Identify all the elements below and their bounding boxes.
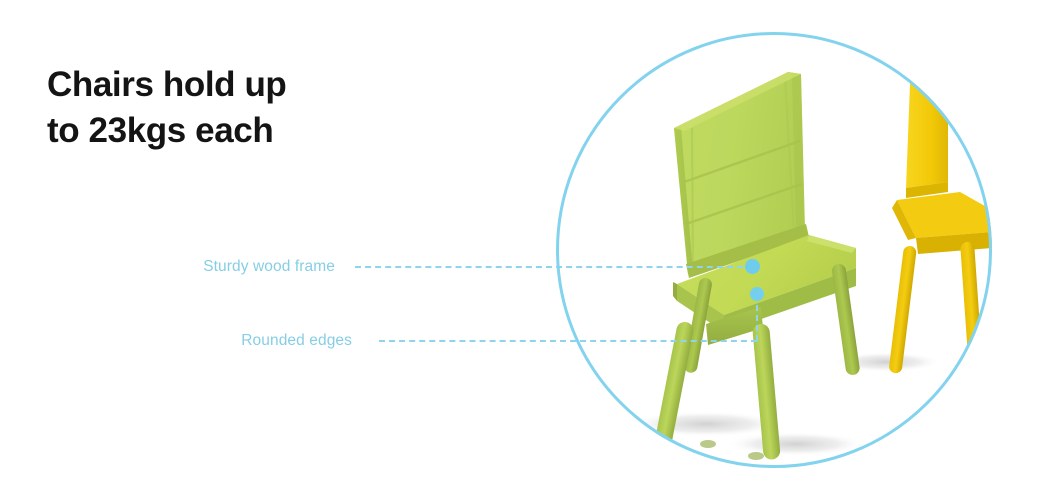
annotation-label-sturdy-wood-frame: Sturdy wood frame: [60, 258, 335, 276]
leader-line-sturdy-wood-frame: [355, 266, 753, 268]
page-title: Chairs hold up to 23kgs each: [47, 62, 477, 154]
annotation-layer: Chairs hold up to 23kgs each Sturdy wood…: [0, 0, 1050, 500]
annotation-marker-sturdy-wood-frame: [745, 259, 760, 274]
leader-line-rounded-edges-vertical: [756, 295, 758, 341]
headline-line-2: to 23kgs each: [47, 108, 477, 154]
annotation-marker-rounded-edges: [750, 287, 764, 301]
leader-line-rounded-edges: [379, 340, 757, 342]
product-feature-graphic: Chairs hold up to 23kgs each Sturdy wood…: [0, 0, 1050, 500]
headline-line-1: Chairs hold up: [47, 65, 286, 104]
annotation-label-rounded-edges: Rounded edges: [60, 332, 352, 350]
